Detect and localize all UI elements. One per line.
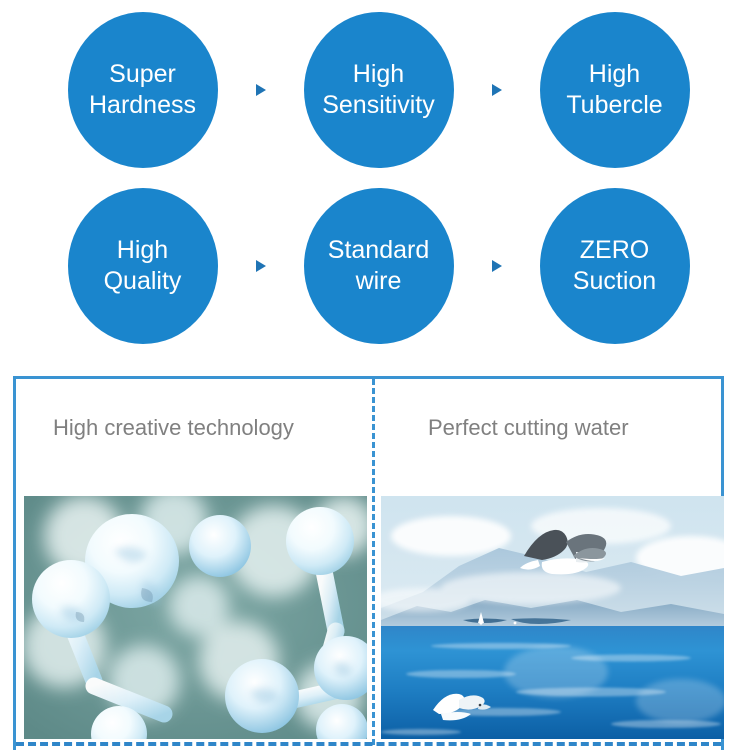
- feature-circle-slot: High Sensitivity: [300, 12, 457, 168]
- feature-circle-line-1: High: [117, 235, 168, 266]
- arrow-slot: [457, 260, 536, 272]
- feature-circle-line-2: Sensitivity: [322, 90, 435, 121]
- feature-circle-line-1: Super: [109, 59, 176, 90]
- arrow-slot: [457, 84, 536, 96]
- feature-circle-slot: High Tubercle: [536, 12, 693, 168]
- feature-row-2: High Quality Standard wire ZERO Suction: [0, 188, 750, 344]
- feature-circles-section: Super Hardness High Sensitivity High Tub…: [0, 0, 750, 360]
- feature-circle-line-2: Tubercle: [566, 90, 662, 121]
- feature-circle-line-1: High: [589, 59, 640, 90]
- panel-bottom-divider: [16, 742, 721, 746]
- feature-circle-high-sensitivity[interactable]: High Sensitivity: [304, 12, 454, 168]
- triangle-right-icon: [492, 84, 502, 96]
- feature-circle-line-1: ZERO: [580, 235, 649, 266]
- feature-row-1: Super Hardness High Sensitivity High Tub…: [0, 12, 750, 168]
- feature-circle-high-tubercle[interactable]: High Tubercle: [540, 12, 690, 168]
- triangle-right-icon: [256, 260, 266, 272]
- triangle-right-icon: [492, 260, 502, 272]
- feature-circle-line-2: Quality: [104, 266, 182, 297]
- feature-circle-line-1: Standard: [328, 235, 429, 266]
- feature-circle-line-2: Suction: [573, 266, 656, 297]
- feature-circle-high-quality[interactable]: High Quality: [68, 188, 218, 344]
- feature-circle-zero-suction[interactable]: ZERO Suction: [540, 188, 690, 344]
- panel-vertical-divider: [372, 379, 375, 745]
- triangle-right-icon: [256, 84, 266, 96]
- feature-circle-standard-wire[interactable]: Standard wire: [304, 188, 454, 344]
- feature-circle-slot: High Quality: [64, 188, 221, 344]
- showcase-panel: High creative technology: [13, 376, 724, 750]
- showcase-image-left: [24, 496, 367, 739]
- arrow-slot: [221, 260, 300, 272]
- feature-circle-line-1: High: [353, 59, 404, 90]
- feature-circle-line-2: Hardness: [89, 90, 196, 121]
- showcase-heading-left: High creative technology: [53, 415, 294, 441]
- showcase-heading-right: Perfect cutting water: [428, 415, 629, 441]
- feature-circle-slot: Standard wire: [300, 188, 457, 344]
- showcase-image-right: [381, 496, 724, 739]
- arrow-slot: [221, 84, 300, 96]
- feature-circle-slot: Super Hardness: [64, 12, 221, 168]
- feature-circle-slot: ZERO Suction: [536, 188, 693, 344]
- seagulls-over-blue-sea-icon: [381, 496, 724, 739]
- ice-molecule-structure-icon: [24, 496, 367, 739]
- feature-circle-super-hardness[interactable]: Super Hardness: [68, 12, 218, 168]
- feature-circle-line-2: wire: [356, 266, 402, 297]
